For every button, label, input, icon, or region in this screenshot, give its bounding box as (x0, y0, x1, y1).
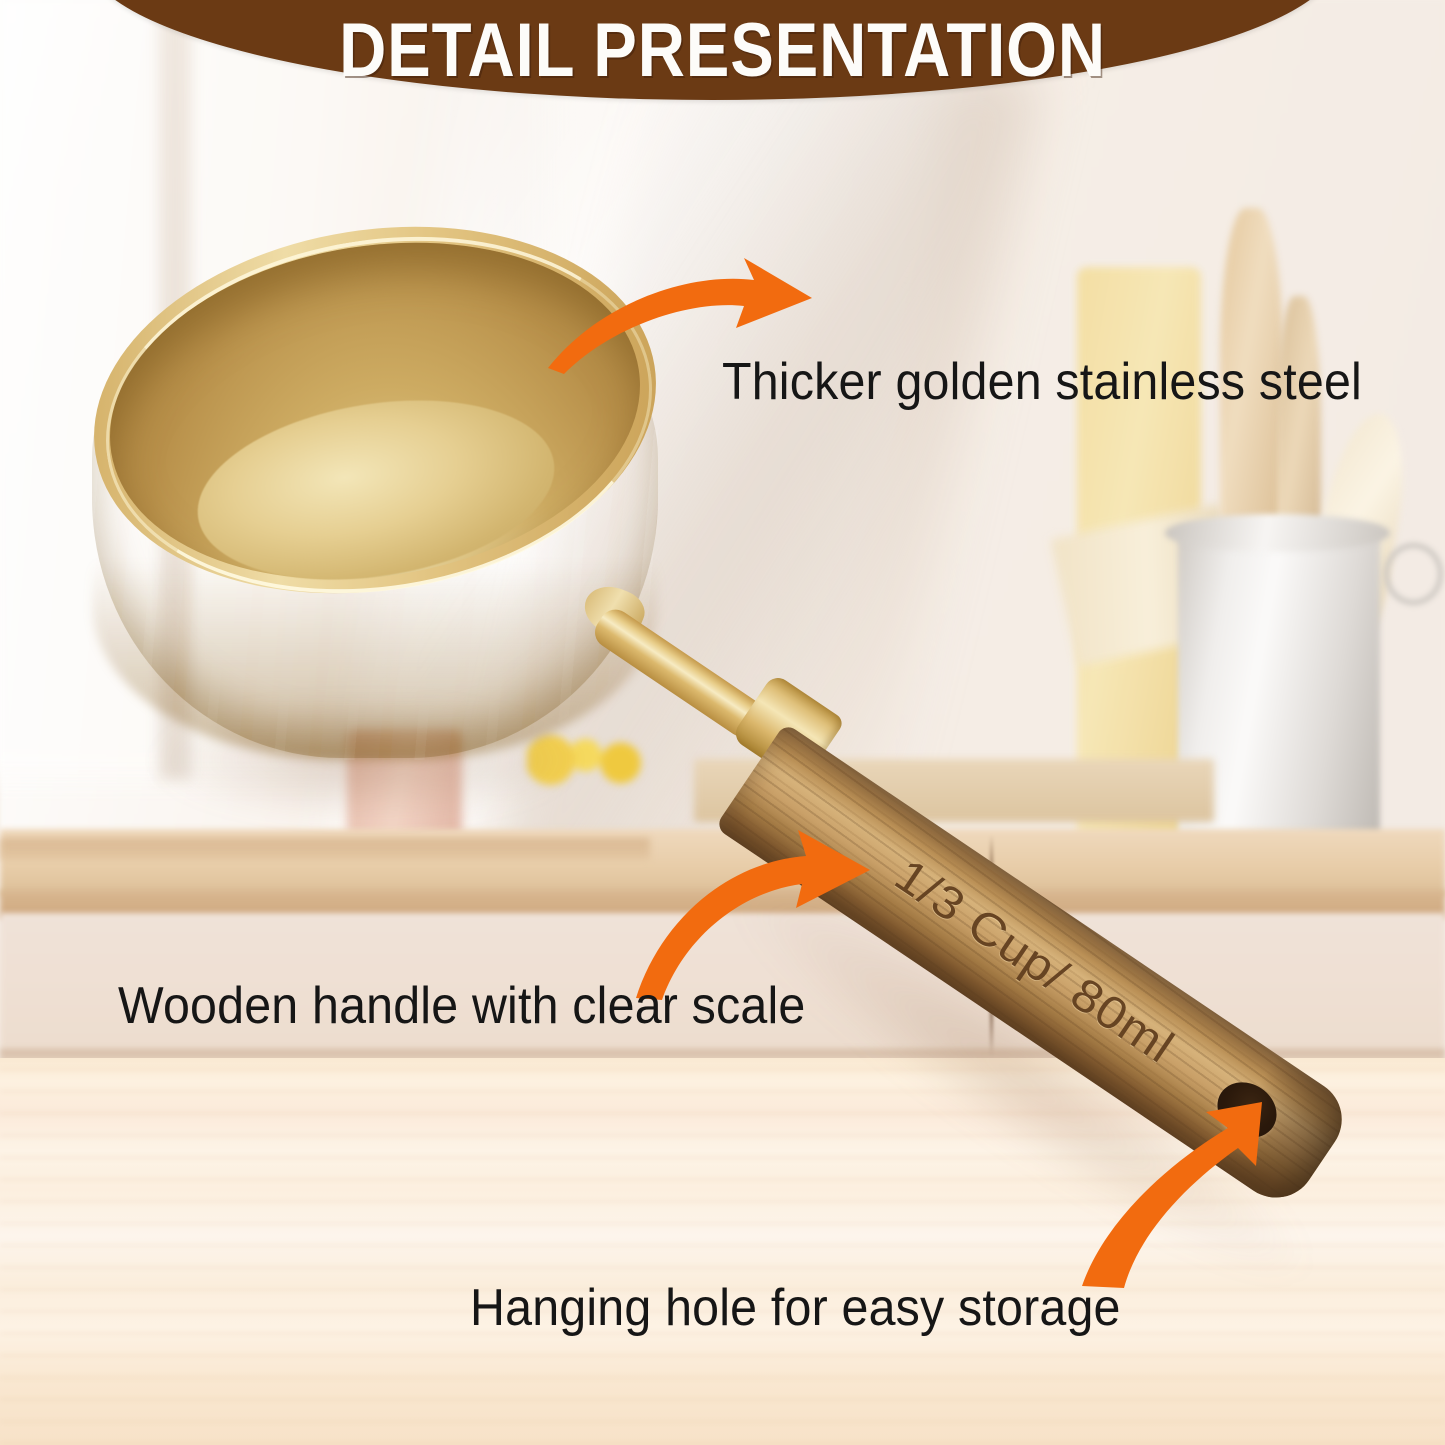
page-title: DETAIL PRESENTATION (101, 0, 1344, 100)
annotation-thicker-steel: Thicker golden stainless steel (722, 352, 1362, 412)
detail-presentation-image: 1/3 Cup/ 80ml DETAIL PRESENTATION Thicke… (0, 0, 1445, 1445)
annotation-hanging-hole: Hanging hole for easy storage (470, 1278, 1121, 1338)
callout-arrow-hanging-hole (1080, 1100, 1310, 1290)
callout-arrow-wooden-handle (630, 812, 880, 1002)
annotation-wooden-handle: Wooden handle with clear scale (118, 976, 806, 1036)
